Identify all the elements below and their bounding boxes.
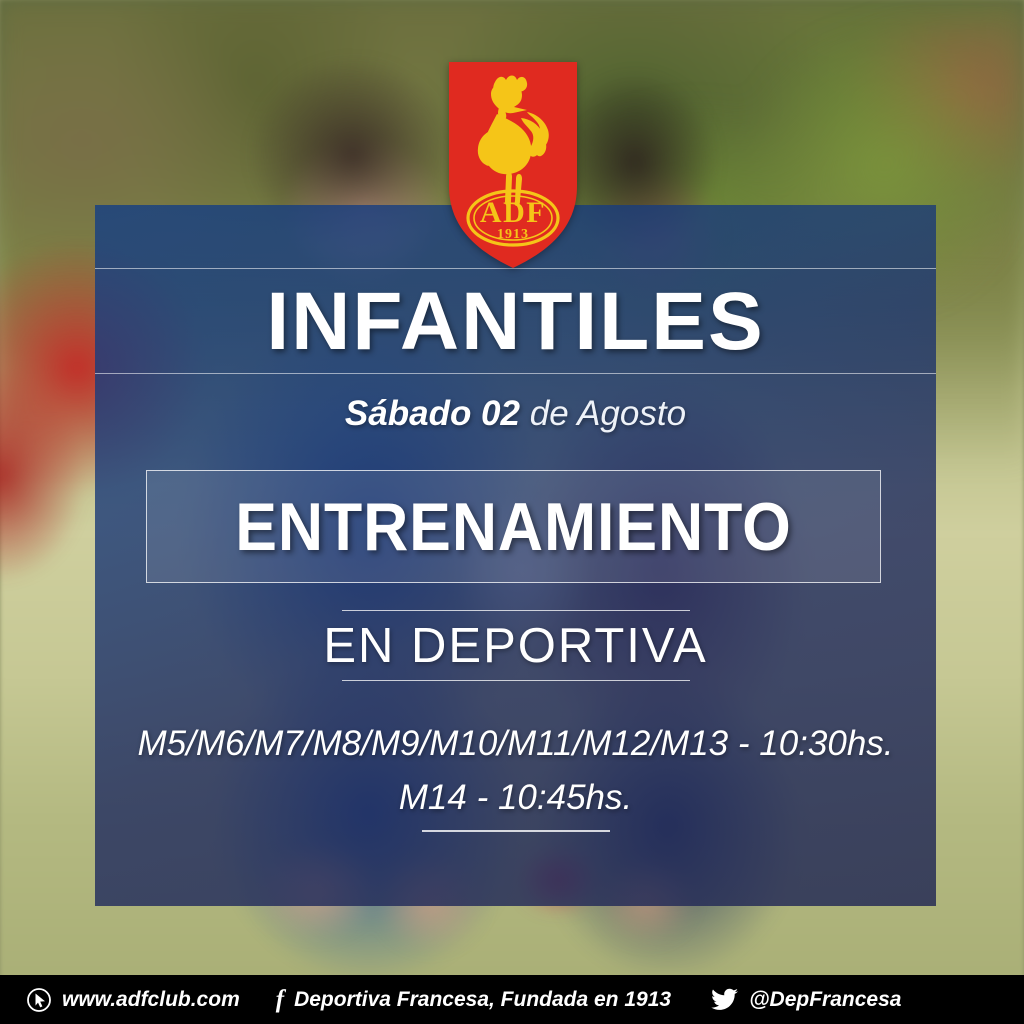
footer-website[interactable]: www.adfclub.com bbox=[26, 987, 240, 1013]
venue-block: EN DEPORTIVA bbox=[95, 610, 936, 681]
venue-label: EN DEPORTIVA bbox=[95, 611, 936, 680]
footer-bar: www.adfclub.com f Deportiva Francesa, Fu… bbox=[0, 975, 1024, 1024]
divider-under-title bbox=[95, 373, 936, 374]
crest-initials: ADF bbox=[480, 196, 546, 229]
schedule-block: M5/M6/M7/M8/M9/M10/M11/M12/M13 - 10:30hs… bbox=[95, 717, 936, 826]
footer-twitter[interactable]: @DepFrancesa bbox=[711, 988, 901, 1012]
footer-facebook[interactable]: f Deportiva Francesa, Fundada en 1913 bbox=[276, 987, 671, 1012]
club-crest-shield-icon: ADF 1913 bbox=[447, 58, 579, 270]
event-date: Sábado 02 de Agosto bbox=[95, 395, 936, 434]
page-title: INFANTILES bbox=[95, 281, 936, 363]
footer-twitter-label: @DepFrancesa bbox=[749, 988, 901, 1012]
footer-website-label: www.adfclub.com bbox=[62, 988, 240, 1012]
footer-facebook-label: Deportiva Francesa, Fundada en 1913 bbox=[294, 988, 671, 1012]
twitter-bird-icon bbox=[711, 988, 739, 1012]
event-date-month: de Agosto bbox=[530, 394, 686, 433]
divider-below-venue bbox=[342, 680, 690, 681]
schedule-line-2: M14 - 10:45hs. bbox=[95, 771, 936, 825]
crest-founded-year: 1913 bbox=[497, 227, 529, 242]
schedule-line-1: M5/M6/M7/M8/M9/M10/M11/M12/M13 - 10:30hs… bbox=[95, 717, 936, 771]
divider-bottom bbox=[422, 830, 610, 832]
announcement-panel: INFANTILES Sábado 02 de Agosto ENTRENAMI… bbox=[95, 205, 936, 906]
event-type-label: ENTRENAMIENTO bbox=[235, 488, 791, 566]
facebook-icon: f bbox=[276, 987, 284, 1012]
event-highlight-box: ENTRENAMIENTO bbox=[146, 470, 881, 583]
event-date-day: Sábado 02 bbox=[345, 394, 520, 433]
poster-canvas: ADF 1913 INFANTILES Sábado 02 de Agosto … bbox=[0, 0, 1024, 1024]
cursor-circle-icon bbox=[26, 987, 52, 1013]
